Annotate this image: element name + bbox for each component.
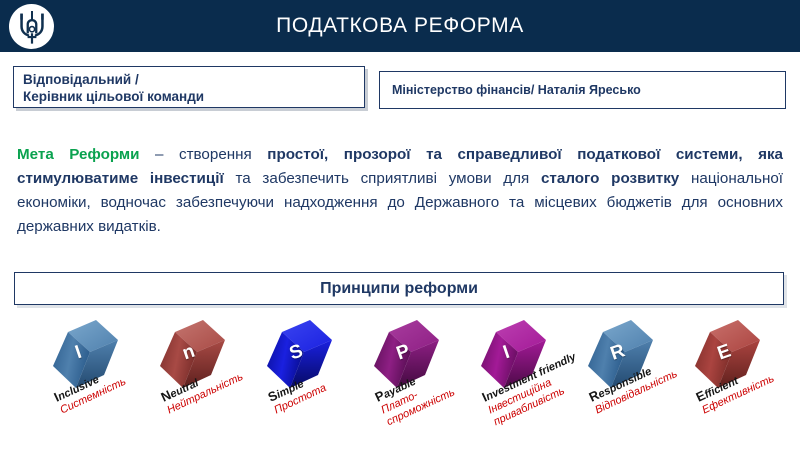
inspire-block-r-5[interactable]: RResponsibleВідповідальність [573,318,679,450]
goal-lead: Мета Реформи [17,146,140,163]
inspire-block-n-1[interactable]: nNeutralНейтральність [145,318,251,450]
responsible-label-line2: Керівник цільової команди [23,88,364,105]
responsible-label-line1: Відповідальний / [23,71,364,88]
inspire-block-i-0[interactable]: IInclusiveСистемність [38,318,144,450]
inspire-block-e-6[interactable]: EEfficientЕфективність [680,318,786,450]
inspire-block-i-4[interactable]: IInvestment friendlyІнвестиційнапривабли… [466,318,572,450]
inspire-block-s-2[interactable]: SSimpleПростота [252,318,358,450]
goal-bold-2: сталого розвитку [541,170,679,187]
goal-text-2: та забезпечить сприятливі умови для [224,170,541,187]
responsible-value: Міністерство фінансів/ Наталія Яресько [392,83,641,97]
responsible-label-box: Відповідальний / Керівник цільової коман… [13,66,365,108]
page-title: ПОДАТКОВА РЕФОРМА [0,0,800,52]
inspire-block-p-3[interactable]: PPayableПлато-спроможність [359,318,465,450]
inspire-blocks-row: IInclusiveСистемністьnNeutralНейтральніс… [0,318,800,450]
app-header: ПОДАТКОВА РЕФОРМА [0,0,800,52]
responsible-value-box: Міністерство фінансів/ Наталія Яресько [379,71,786,109]
ukraine-trident-icon [9,4,54,49]
reform-goal-paragraph: Мета Реформи – створення простої, прозор… [17,143,783,239]
principles-banner: Принципи реформи [14,272,784,305]
goal-text-1: – створення [140,146,268,163]
principles-title: Принципи реформи [320,280,478,298]
